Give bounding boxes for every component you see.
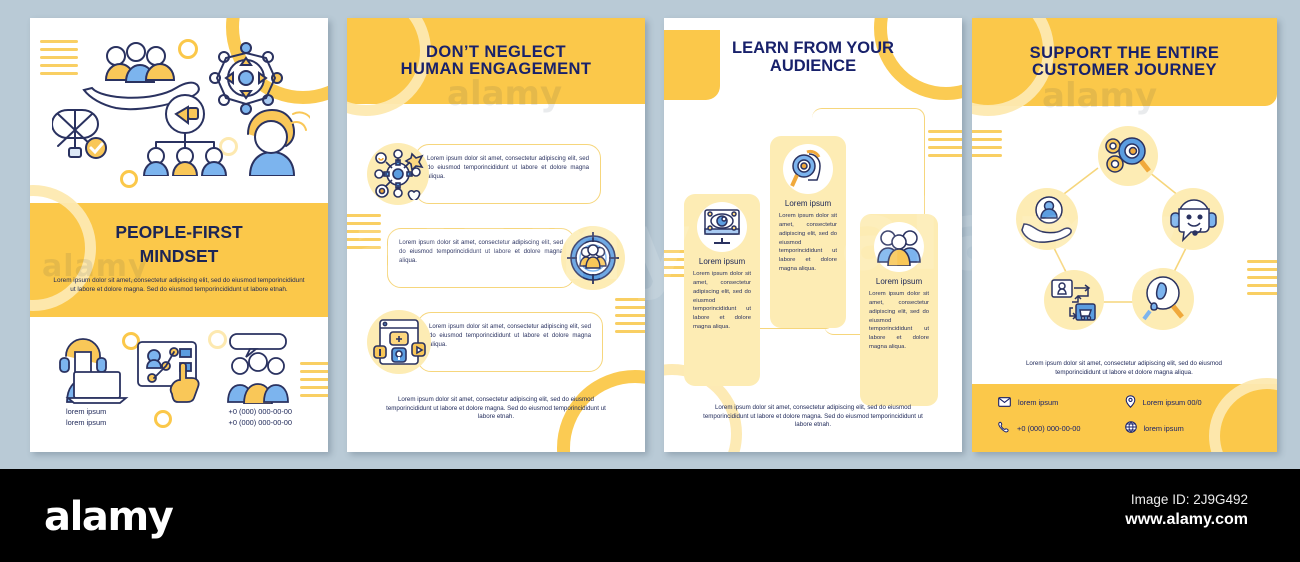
panel-footer: lorem ipsum lorem ipsum +0 (000) 000-00-… (30, 324, 328, 452)
feature-text-pill: Lorem ipsum dolor sit amet, consectetur … (417, 312, 603, 372)
target-audience-icon (561, 226, 625, 290)
contact-phone[interactable]: +0 (000) 000-00-00 (998, 421, 1125, 435)
chat-support-headset-icon[interactable] (1162, 188, 1224, 250)
info-card[interactable]: Lorem ipsum Lorem ipsum dolor sit amet, … (770, 136, 846, 328)
watermark-overlay: alamy (447, 74, 562, 114)
panel-lede: Lorem ipsum dolor sit amet, consectetur … (1004, 360, 1244, 377)
panel-customer-journey[interactable]: alamy SUPPORT THE ENTIRE CUSTOMER JOURNE… (972, 18, 1277, 452)
contact-band: lorem ipsum Lorem ipsum 00/0 +0 (000) 00… (972, 384, 1277, 452)
customer-care-hand-icon[interactable] (1016, 188, 1078, 250)
card-heading: Lorem ipsum (699, 257, 745, 266)
dash-lines-decoration (300, 362, 328, 397)
feature-text: Lorem ipsum dolor sit amet, consectetur … (429, 322, 591, 349)
card-text: Lorem ipsum dolor sit amet, consectetur … (779, 212, 837, 274)
footer-phone: +0 (000) 000-00-00 (229, 417, 292, 428)
feature-text-pill: Lorem ipsum dolor sit amet, consectetur … (387, 228, 575, 288)
panel-title: SUPPORT THE ENTIRE CUSTOMER JOURNEY (1030, 45, 1220, 80)
dash-lines-decoration (615, 298, 645, 333)
card-heading: Lorem ipsum (876, 277, 922, 286)
feature-text: Lorem ipsum dolor sit amet, consectetur … (399, 238, 563, 265)
poster-canvas: alamy PEOPLE-FIRST MINDSET Lorem ipsum d… (0, 0, 1300, 562)
footprint-magnifier-icon[interactable] (1132, 268, 1194, 330)
watermark-overlay: alamy (1042, 76, 1157, 116)
contact-website[interactable]: lorem ipsum (1125, 421, 1252, 435)
panel-learn-from-audience[interactable]: LEARN FROM YOUR AUDIENCE Lore (664, 18, 962, 452)
footer-label: lorem ipsum (66, 417, 106, 428)
feature-row[interactable]: Lorem ipsum dolor sit amet, consectetur … (367, 143, 601, 205)
footer-right-labels: +0 (000) 000-00-00 +0 (000) 000-00-00 (229, 406, 292, 428)
title-band: alamy PEOPLE-FIRST MINDSET Lorem ipsum d… (30, 203, 328, 317)
footer-left-labels: lorem ipsum lorem ipsum (66, 406, 106, 428)
map-pin-icon (1125, 395, 1136, 410)
dash-lines-decoration (972, 130, 1002, 157)
panel-lede: Lorem ipsum dolor sit amet, consectetur … (52, 277, 306, 294)
footer-label: lorem ipsum (66, 406, 106, 417)
monitor-eye-icon (697, 202, 747, 252)
envelope-icon (998, 397, 1011, 409)
feature-row[interactable]: Lorem ipsum dolor sit amet, consectetur … (387, 226, 625, 290)
panel-title: DON’T NEGLECT HUMAN ENGAGEMENT (401, 44, 592, 79)
panel-human-engagement[interactable]: alamy DON’T NEGLECT HUMAN ENGAGEMENT (347, 18, 645, 452)
panel-title: PEOPLE-FIRST MINDSET (30, 221, 328, 268)
people-in-hand-icon (52, 36, 310, 176)
magnifier-head-icon (783, 144, 833, 194)
card-text: Lorem ipsum dolor sit amet, consectetur … (693, 270, 751, 332)
phone-icon (998, 421, 1010, 435)
alamy-meta: Image ID: 2J9G492 www.alamy.com (1125, 492, 1248, 529)
contact-label: lorem ipsum (1144, 424, 1184, 433)
contact-label: +0 (000) 000-00-00 (1017, 424, 1080, 433)
contact-address[interactable]: Lorem ipsum 00/0 (1125, 395, 1252, 410)
contact-label: Lorem ipsum 00/0 (1143, 398, 1202, 407)
card-text: Lorem ipsum dolor sit amet, consectetur … (869, 290, 929, 352)
alamy-logo: alamy (44, 494, 172, 540)
dash-lines-decoration (1247, 260, 1277, 295)
magnifier-gear-icon[interactable] (1098, 126, 1158, 186)
audience-group-icon (874, 222, 924, 272)
dash-lines-decoration (928, 130, 962, 157)
card-heading: Lorem ipsum (785, 199, 831, 208)
watermark-bar (0, 469, 1300, 562)
panel-title: LEARN FROM YOUR AUDIENCE (664, 40, 962, 76)
feature-text: Lorem ipsum dolor sit amet, consectetur … (427, 154, 589, 181)
contact-email[interactable]: lorem ipsum (998, 395, 1125, 410)
dash-lines-decoration (347, 214, 381, 249)
image-id: Image ID: 2J9G492 (1125, 492, 1248, 507)
globe-icon (1125, 421, 1137, 435)
panel-lede: Lorem ipsum dolor sit amet, consectetur … (700, 404, 926, 429)
feature-row[interactable]: Lorem ipsum dolor sit amet, consectetur … (367, 310, 603, 374)
media-content-icon (367, 310, 431, 374)
feature-text-pill: Lorem ipsum dolor sit amet, consectetur … (415, 144, 601, 204)
panel-header: alamy DON’T NEGLECT HUMAN ENGAGEMENT (347, 18, 645, 104)
contact-label: lorem ipsum (1018, 398, 1058, 407)
panel-lede: Lorem ipsum dolor sit amet, consectetur … (383, 396, 609, 421)
headset-agent-laptop-icon (54, 332, 294, 404)
gear-network-icon (367, 143, 429, 205)
footer-phone: +0 (000) 000-00-00 (229, 406, 292, 417)
journey-flow-icon[interactable] (1044, 270, 1104, 330)
info-card[interactable]: Lorem ipsum Lorem ipsum dolor sit amet, … (860, 214, 938, 406)
alamy-url: www.alamy.com (1125, 511, 1248, 529)
info-card[interactable]: Lorem ipsum Lorem ipsum dolor sit amet, … (684, 194, 760, 386)
panel-people-first[interactable]: alamy PEOPLE-FIRST MINDSET Lorem ipsum d… (30, 18, 328, 452)
panel-header: alamy SUPPORT THE ENTIRE CUSTOMER JOURNE… (972, 18, 1277, 106)
